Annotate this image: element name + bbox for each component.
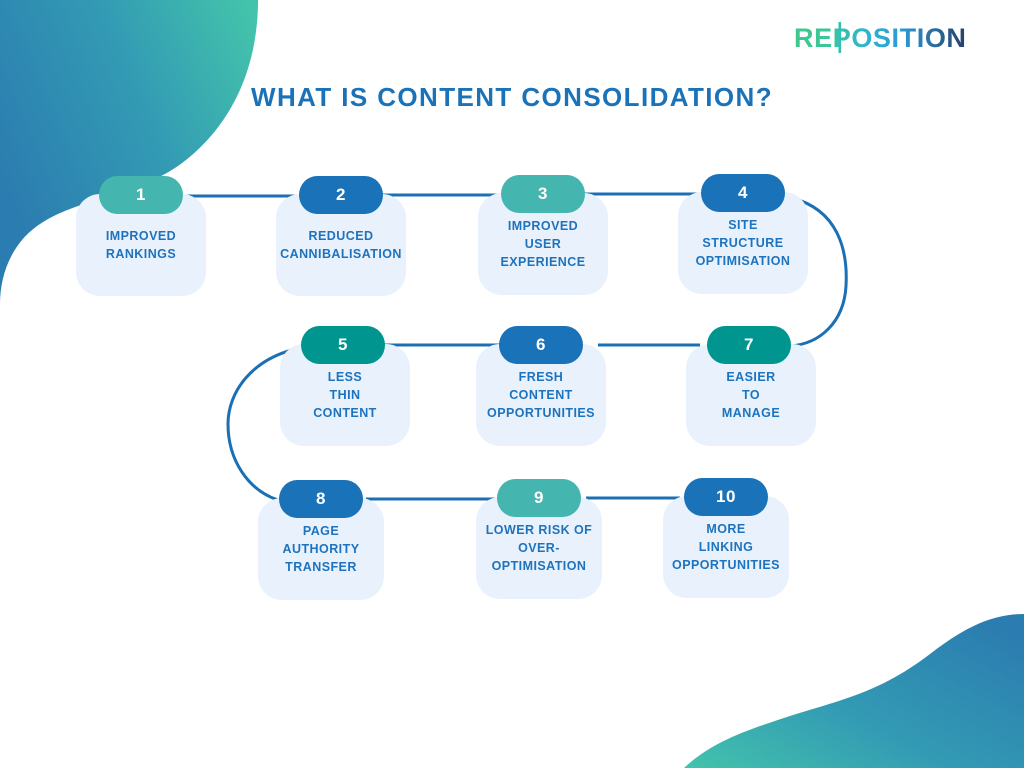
step-card-7[interactable]: EASIER TO MANAGE 7 [686, 326, 816, 446]
step-card-3-label: IMPROVED USER EXPERIENCE [494, 217, 591, 271]
step-card-2[interactable]: REDUCED CANNIBALISATION 2 [276, 176, 406, 296]
step-card-10[interactable]: MORE LINKING OPPORTUNITIES 10 [663, 478, 789, 598]
step-card-8[interactable]: PAGE AUTHORITY TRANSFER 8 [258, 480, 384, 600]
infographic-canvas: REPOSITION WHAT IS CONTENT CONSOLIDATION… [0, 0, 1024, 768]
logo-divider-bar [839, 22, 842, 53]
step-card-9-number-pill[interactable]: 9 [497, 479, 581, 517]
logo-wordmark: REPOSITION [794, 21, 1002, 55]
step-card-5-label: LESS THIN CONTENT [307, 368, 383, 422]
logo-text: REPOSITION [794, 23, 967, 53]
step-card-7-number-pill[interactable]: 7 [707, 326, 791, 364]
step-card-1-label: IMPROVED RANKINGS [100, 227, 182, 263]
step-card-10-number-pill[interactable]: 10 [684, 478, 768, 516]
step-card-8-number: 8 [316, 489, 326, 509]
brand-logo: REPOSITION [794, 18, 1002, 58]
step-card-4-label: SITE STRUCTURE OPTIMISATION [690, 216, 797, 270]
step-card-1[interactable]: IMPROVED RANKINGS 1 [76, 176, 206, 296]
step-card-7-label: EASIER TO MANAGE [716, 368, 786, 422]
step-card-9-label: LOWER RISK OF OVER- OPTIMISATION [480, 521, 599, 575]
step-card-6-number-pill[interactable]: 6 [499, 326, 583, 364]
step-card-2-number-pill[interactable]: 2 [299, 176, 383, 214]
step-card-4[interactable]: SITE STRUCTURE OPTIMISATION 4 [678, 174, 808, 294]
step-card-6-number: 6 [536, 335, 546, 355]
step-card-6-label: FRESH CONTENT OPPORTUNITIES [481, 368, 601, 422]
step-card-2-label: REDUCED CANNIBALISATION [274, 227, 408, 263]
step-card-3-number-pill[interactable]: 3 [501, 175, 585, 213]
step-card-4-number-pill[interactable]: 4 [701, 174, 785, 212]
step-card-9[interactable]: LOWER RISK OF OVER- OPTIMISATION 9 [476, 479, 602, 599]
step-card-5-number-pill[interactable]: 5 [301, 326, 385, 364]
step-card-3-number: 3 [538, 184, 548, 204]
step-card-5[interactable]: LESS THIN CONTENT 5 [280, 326, 410, 446]
step-card-9-number: 9 [534, 488, 544, 508]
step-card-6[interactable]: FRESH CONTENT OPPORTUNITIES 6 [476, 326, 606, 446]
step-card-4-number: 4 [738, 183, 748, 203]
step-card-1-number: 1 [136, 185, 146, 205]
step-card-10-number: 10 [716, 487, 736, 507]
step-card-3[interactable]: IMPROVED USER EXPERIENCE 3 [478, 175, 608, 295]
page-title: WHAT IS CONTENT CONSOLIDATION? [0, 82, 1024, 113]
step-card-7-number: 7 [744, 335, 754, 355]
step-card-1-number-pill[interactable]: 1 [99, 176, 183, 214]
blob-bottom-right-shape [684, 614, 1024, 768]
step-card-2-number: 2 [336, 185, 346, 205]
step-card-10-label: MORE LINKING OPPORTUNITIES [666, 520, 786, 574]
step-card-8-label: PAGE AUTHORITY TRANSFER [277, 522, 366, 576]
step-card-8-number-pill[interactable]: 8 [279, 480, 363, 518]
step-card-5-number: 5 [338, 335, 348, 355]
